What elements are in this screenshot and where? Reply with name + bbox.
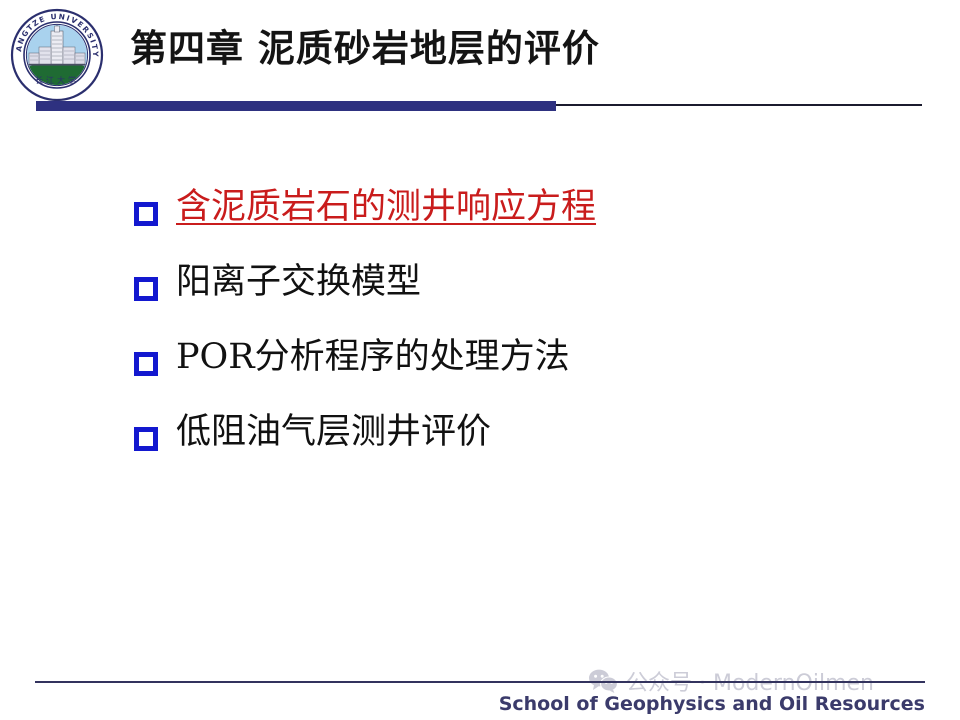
square-bullet-icon (134, 427, 158, 451)
header-divider-bar (36, 101, 556, 111)
yangtze-university-logo: YANGTZE UNIVERSITY (9, 7, 105, 103)
list-item[interactable]: 阳离子交换模型 (0, 258, 960, 333)
slide-canvas: YANGTZE UNIVERSITY (0, 0, 960, 720)
list-item[interactable]: 低阻油气层测井评价 (0, 408, 960, 483)
square-bullet-icon (134, 352, 158, 376)
footer-divider (35, 681, 925, 683)
list-item-label: 阳离子交换模型 (176, 258, 421, 306)
outline-list: 含泥质岩石的测井响应方程 阳离子交换模型 POR分析程序的处理方法 低阻油气层测… (0, 183, 960, 483)
footer-school-name: School of Geophysics and Oil Resources (499, 693, 925, 715)
list-item-label: 含泥质岩石的测井响应方程 (176, 183, 596, 231)
list-item[interactable]: 含泥质岩石的测井响应方程 (0, 183, 960, 258)
list-item-label: 低阻油气层测井评价 (176, 408, 491, 456)
slide-header: YANGTZE UNIVERSITY (0, 0, 960, 108)
page-title: 第四章 泥质砂岩地层的评价 (130, 27, 600, 71)
svg-text:长江大学: 长江大学 (35, 75, 79, 85)
square-bullet-icon (134, 277, 158, 301)
list-item[interactable]: POR分析程序的处理方法 (0, 333, 960, 408)
square-bullet-icon (134, 202, 158, 226)
list-item-label: POR分析程序的处理方法 (176, 333, 570, 381)
